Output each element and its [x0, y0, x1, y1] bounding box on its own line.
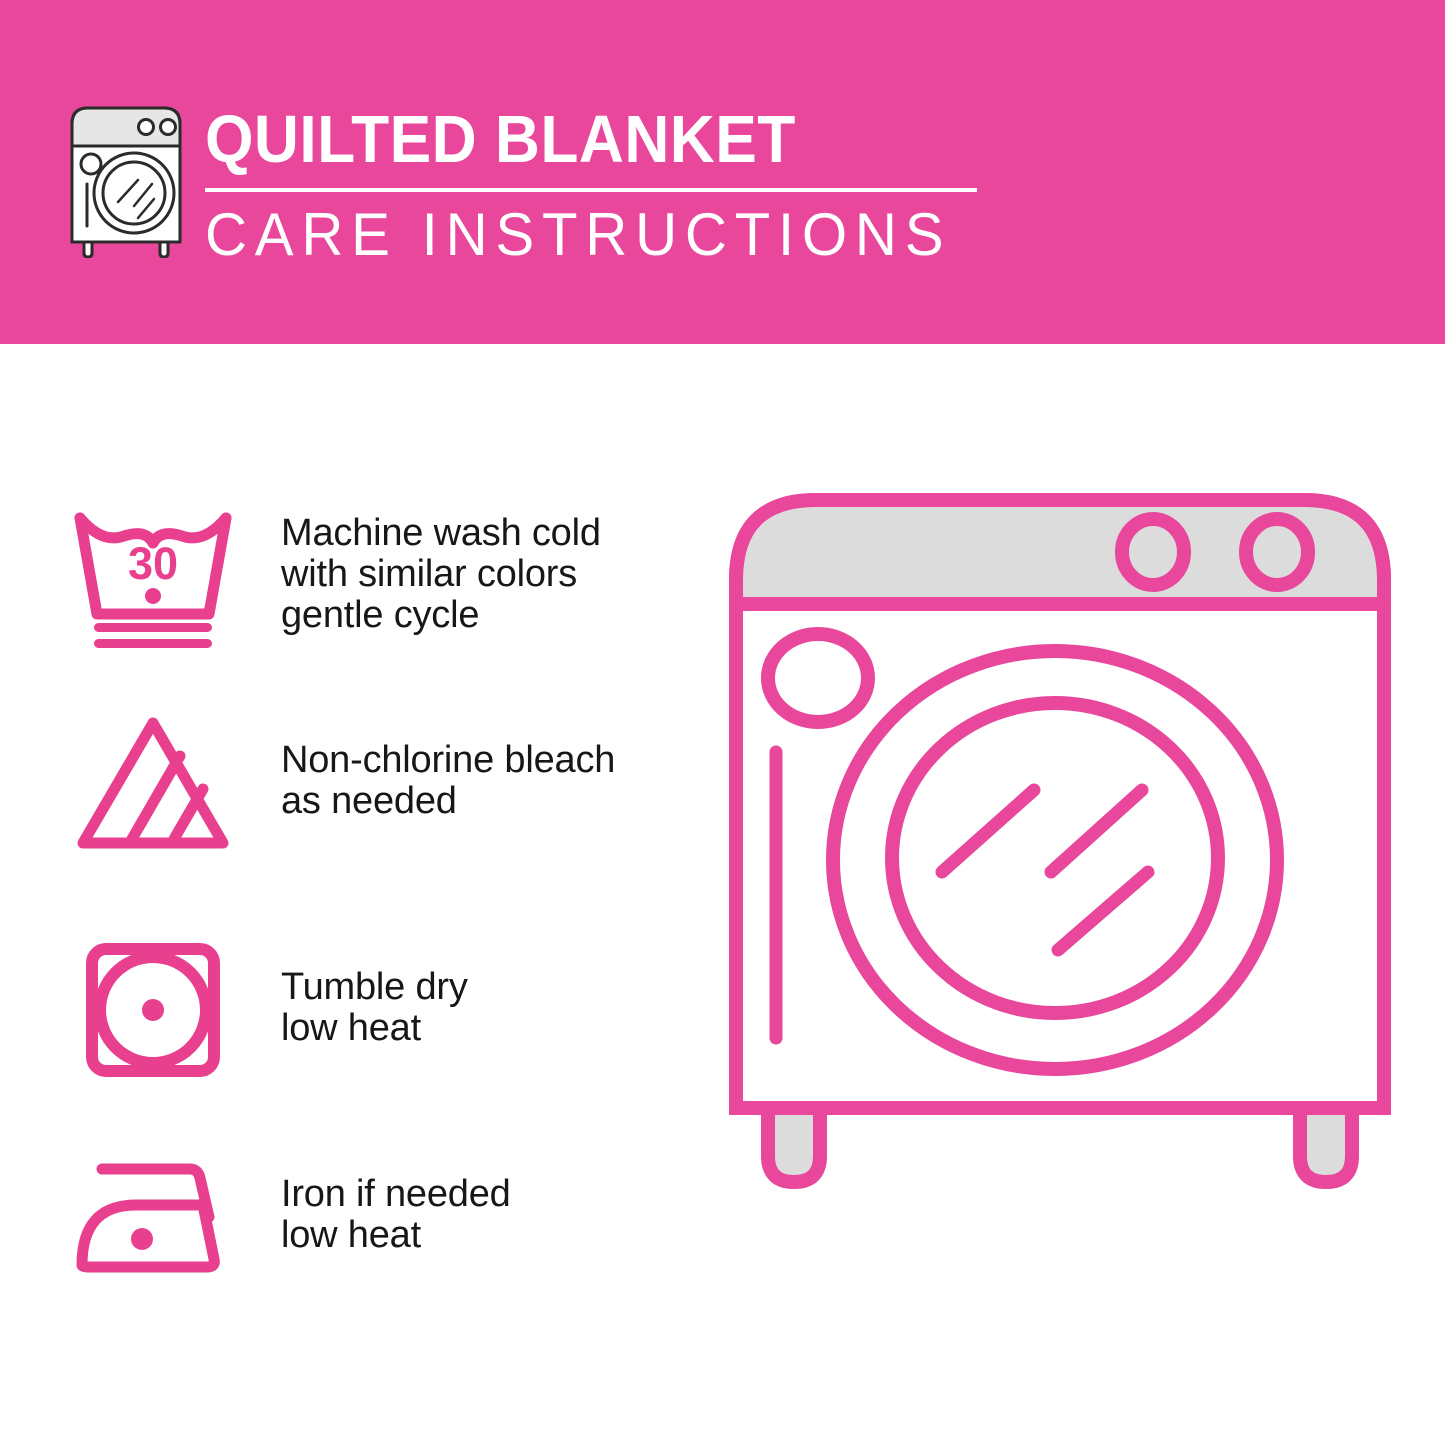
care-label: Tumble dry low heat [248, 927, 468, 1049]
front-load-washing-machine-illustration [700, 460, 1420, 1380]
care-row: 30 Machine wash cold with similar colors… [0, 494, 700, 659]
header-text-block: QUILTED BLANKET CARE INSTRUCTIONS [205, 103, 995, 268]
care-label: Non-chlorine bleach as needed [248, 700, 615, 822]
page-subtitle: CARE INSTRUCTIONS [205, 202, 971, 268]
care-symbol-list: 30 Machine wash cold with similar colors… [0, 344, 700, 1445]
care-instructions-infographic: QUILTED BLANKET CARE INSTRUCTIONS 30 [0, 0, 1445, 1445]
care-row: Iron if needed low heat [0, 1134, 700, 1299]
care-row: Tumble dry low heat [0, 927, 700, 1092]
header-divider [205, 188, 977, 192]
header-banner: QUILTED BLANKET CARE INSTRUCTIONS [0, 0, 1445, 344]
care-label: Iron if needed low heat [248, 1134, 511, 1256]
care-label: Machine wash cold with similar colors ge… [248, 494, 601, 636]
tumble-dry-low-icon [58, 927, 248, 1092]
svg-text:30: 30 [128, 538, 178, 589]
wash-basin-30-gentle-icon: 30 [58, 494, 248, 659]
iron-low-heat-icon [58, 1134, 248, 1299]
care-row: Non-chlorine bleach as needed [0, 700, 700, 865]
page-title: QUILTED BLANKET [205, 103, 940, 177]
non-chlorine-bleach-triangle-icon [58, 700, 248, 865]
washing-machine-icon [58, 98, 194, 258]
